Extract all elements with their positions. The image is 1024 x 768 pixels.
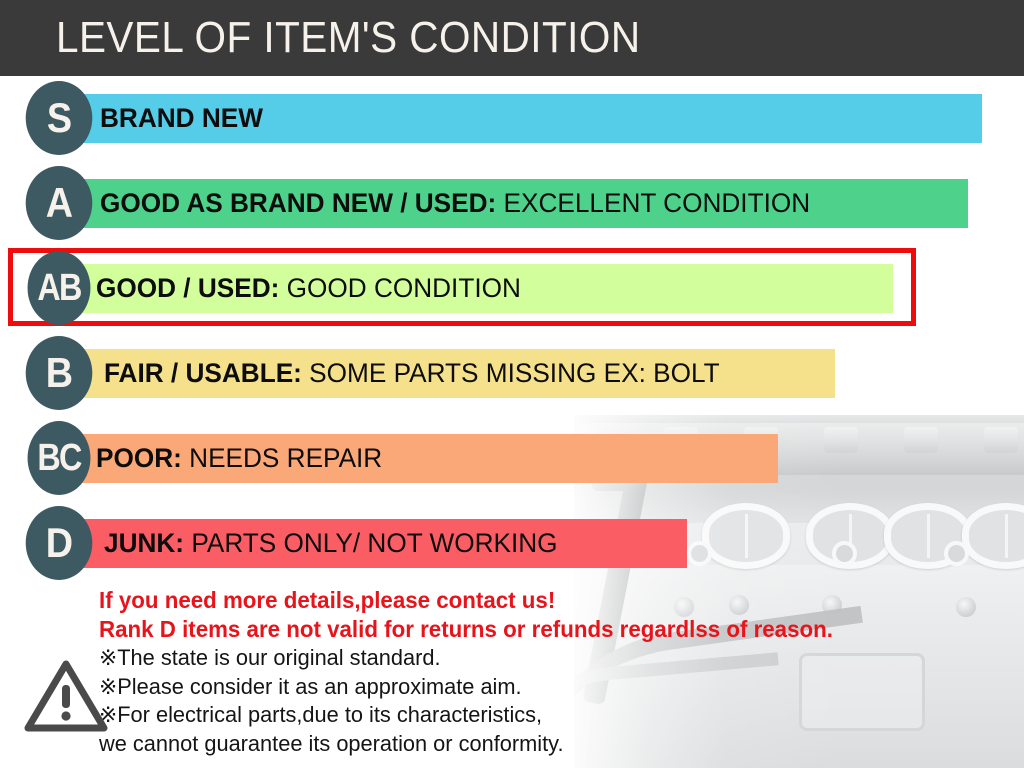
rank-badge-b: B [26,336,93,410]
rank-row-a: A GOOD AS BRAND NEW / USED: EXCELLENT CO… [0,161,1024,246]
rank-badge-bc: BC [28,421,91,495]
warning-line-1: If you need more details,please contact … [99,586,996,615]
rank-desc-b: SOME PARTS MISSING EX: BOLT [309,358,719,389]
rank-badge-a: A [26,166,93,240]
rank-label-a: GOOD AS BRAND NEW / USED: [100,188,496,219]
rank-desc-ab: GOOD CONDITION [287,273,521,304]
rank-text-s: BRAND NEW [100,94,270,143]
rank-badge-s: S [26,81,93,155]
header-bar: LEVEL OF ITEM'S CONDITION [0,0,1024,76]
condition-grade-infographic: LEVEL OF ITEM'S CONDITION S BRAND NEW A … [0,0,1024,768]
rank-row-ab: AB GOOD / USED: GOOD CONDITION [0,246,1024,331]
rank-text-a: GOOD AS BRAND NEW / USED: EXCELLENT COND… [100,179,810,228]
rank-row-s: S BRAND NEW [0,76,1024,161]
page-title: LEVEL OF ITEM'S CONDITION [56,12,641,64]
rank-label-b: FAIR / USABLE: [104,358,302,389]
rank-list: S BRAND NEW A GOOD AS BRAND NEW / USED: … [0,76,1024,586]
rank-label-ab: GOOD / USED: [96,273,279,304]
rank-row-d: D JUNK: PARTS ONLY/ NOT WORKING [0,501,1024,586]
rank-text-b: FAIR / USABLE: SOME PARTS MISSING EX: BO… [104,349,720,398]
rank-badge-d: D [26,506,93,580]
note-line-4: we cannot guarantee its operation or con… [99,730,1015,759]
rank-text-d: JUNK: PARTS ONLY/ NOT WORKING [104,519,558,568]
rank-desc-d: PARTS ONLY/ NOT WORKING [191,528,557,559]
rank-text-ab: GOOD / USED: GOOD CONDITION [96,264,521,313]
note-line-1: ※The state is our original standard. [99,644,1015,673]
warning-line-2: Rank D items are not valid for returns o… [99,615,996,644]
rank-badge-ab: AB [28,251,91,325]
rank-row-b: B FAIR / USABLE: SOME PARTS MISSING EX: … [0,331,1024,416]
rank-label-s: BRAND NEW [100,103,263,134]
rank-desc-bc: NEEDS REPAIR [189,443,382,474]
rank-label-d: JUNK: [104,528,184,559]
rank-desc-a: EXCELLENT CONDITION [504,188,811,219]
rank-label-bc: POOR: [96,443,182,474]
warning-triangle-icon [24,659,108,733]
rank-text-bc: POOR: NEEDS REPAIR [96,434,382,483]
notes-section: If you need more details,please contact … [0,586,1024,758]
rank-row-bc: BC POOR: NEEDS REPAIR [0,416,1024,501]
note-line-3: ※For electrical parts,due to its charact… [99,701,1015,730]
note-line-2: ※Please consider it as an approximate ai… [99,673,1015,702]
